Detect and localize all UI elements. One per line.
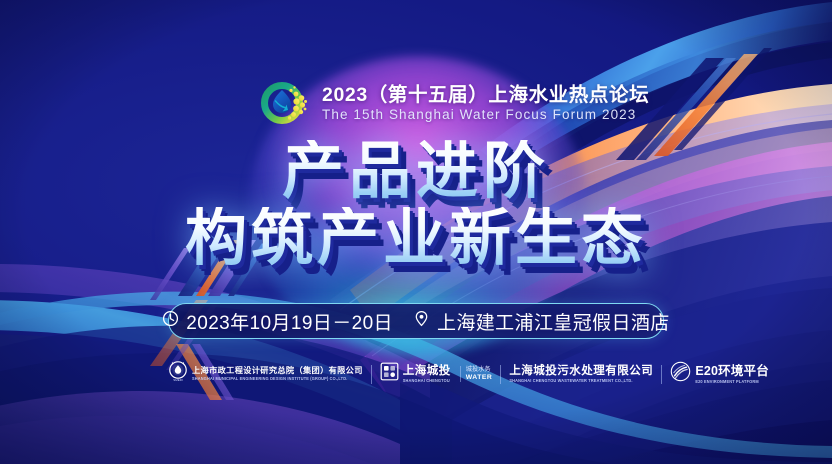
event-date: 2023年10月19日－20日: [186, 308, 393, 335]
clock-icon: [162, 310, 179, 332]
forum-title-cn: 2023（第十五届）上海水业热点论坛: [322, 85, 649, 105]
forum-identity: 2023（第十五届）上海水业热点论坛 The 15th Shanghai Wat…: [258, 76, 649, 130]
event-banner: 2023（第十五届）上海水业热点论坛 The 15th Shanghai Wat…: [0, 0, 832, 464]
chengtou-water-en: WATER: [466, 374, 493, 382]
sponsor-e20: E20环境平台 E20 ENVIRONMENT PLATFORM: [670, 360, 769, 388]
sponsor-divider-1: [371, 365, 372, 384]
water-drop-globe-emblem: [258, 76, 312, 130]
sponsor-wastewater: 上海城投污水处理有限公司 SHANGHAI CHENGTOU WASTEWATE…: [509, 360, 653, 388]
smedi-logo-mark: SMEDI: [168, 361, 188, 387]
smedi-name-en: SHANGHAI MUNICIPAL ENGINEERING DESIGN IN…: [192, 376, 363, 381]
date-venue-bar: 2023年10月19日－20日 上海建工浦江皇冠假日酒店: [168, 303, 664, 339]
e20-spiral-logo-mark: [670, 361, 691, 387]
wastewater-text: 上海城投污水处理有限公司 SHANGHAI CHENGTOU WASTEWATE…: [509, 364, 653, 383]
e20-name-en: E20 ENVIRONMENT PLATFORM: [695, 379, 769, 384]
venue-group: 上海建工浦江皇冠假日酒店: [413, 308, 670, 335]
sponsor-chengtou: 上海城投 SHANGHAI CHENGTOU 城投水务 WATER: [380, 360, 493, 388]
shanghai-chengtou-logo-mark: [380, 362, 399, 386]
chengtou-water-cn: 城投水务: [466, 366, 493, 374]
e20-text: E20环境平台 E20 ENVIRONMENT PLATFORM: [695, 364, 769, 384]
wastewater-name-cn: 上海城投污水处理有限公司: [509, 364, 653, 378]
sponsor-smedi: SMEDI 上海市政工程设计研究总院（集团）有限公司 SHANGHAI MUNI…: [168, 360, 363, 388]
event-venue: 上海建工浦江皇冠假日酒店: [437, 308, 670, 335]
chengtou-name-en: SHANGHAI CHENGTOU: [403, 378, 451, 383]
e20-name-cn: E20环境平台: [695, 364, 769, 379]
sponsor-divider-2: [500, 365, 501, 384]
location-pin-icon: [413, 310, 430, 332]
chengtou-name-cn: 上海城投: [403, 364, 451, 378]
svg-text:SMEDI: SMEDI: [173, 378, 183, 382]
chengtou-water-sub: 城投水务 WATER: [460, 366, 493, 382]
chengtou-text: 上海城投 SHANGHAI CHENGTOU: [403, 364, 451, 383]
forum-title-en: The 15th Shanghai Water Focus Forum 2023: [322, 108, 649, 123]
forum-title-block: 2023（第十五届）上海水业热点论坛 The 15th Shanghai Wat…: [322, 83, 649, 122]
sponsor-logo-row: SMEDI 上海市政工程设计研究总院（集团）有限公司 SHANGHAI MUNI…: [168, 360, 668, 388]
smedi-text: 上海市政工程设计研究总院（集团）有限公司 SHANGHAI MUNICIPAL …: [192, 366, 363, 381]
wastewater-name-en: SHANGHAI CHENGTOU WASTEWATER TREATMENT C…: [509, 378, 653, 383]
sponsor-divider-3: [661, 365, 662, 384]
date-group: 2023年10月19日－20日: [162, 308, 393, 335]
